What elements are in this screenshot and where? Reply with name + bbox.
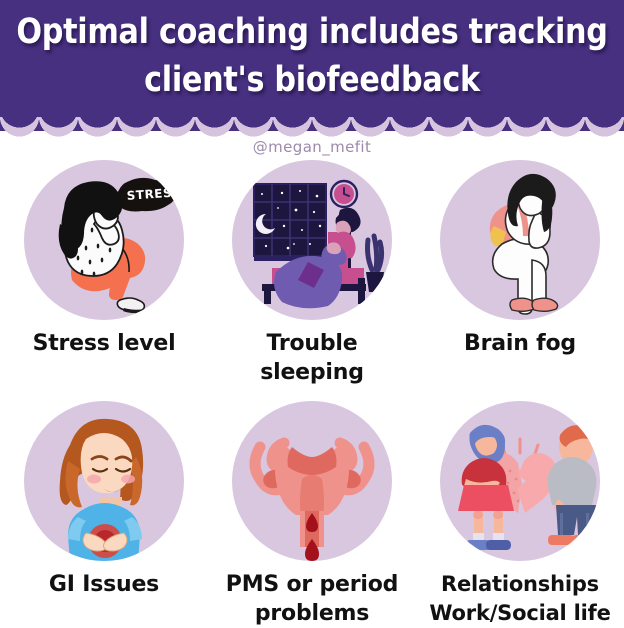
stressed-woman-icon: STRESS bbox=[24, 160, 184, 320]
symptom-row-1: STRESS bbox=[0, 160, 624, 387]
poster: Optimal coaching includes tracking clien… bbox=[0, 0, 624, 624]
stomach-ache-woman-icon bbox=[24, 401, 184, 561]
author-handle: @megan_mefit bbox=[0, 138, 624, 156]
uterus-bleeding-icon bbox=[232, 401, 392, 561]
symptom-card-stress-level[interactable]: STRESS bbox=[0, 160, 208, 387]
symptom-card-gi-issues[interactable]: GI Issues bbox=[0, 401, 208, 628]
sitting-woman-head-in-hand-icon bbox=[440, 160, 600, 320]
symptom-label: Trouble sleeping bbox=[260, 329, 364, 387]
symptom-label: Brain fog bbox=[464, 329, 576, 358]
scallop-dark-edge bbox=[0, 108, 624, 142]
page-title: Optimal coaching includes tracking clien… bbox=[12, 8, 611, 104]
symptom-card-relationships[interactable]: Relationships Work/Social life bbox=[416, 401, 624, 628]
symptom-card-brain-fog[interactable]: Brain fog bbox=[416, 160, 624, 387]
broken-heart-couple-icon bbox=[440, 401, 600, 561]
symptom-row-2: GI Issues bbox=[0, 401, 624, 628]
insomnia-bed-icon bbox=[232, 160, 392, 320]
symptom-label: GI Issues bbox=[49, 570, 159, 599]
symptom-card-pms-period-problems[interactable]: PMS or period problems bbox=[208, 401, 416, 628]
symptom-card-trouble-sleeping[interactable]: Trouble sleeping bbox=[208, 160, 416, 387]
symptom-label: Stress level bbox=[33, 329, 176, 358]
symptom-label: PMS or period problems bbox=[226, 570, 398, 628]
symptom-label: Relationships Work/Social life bbox=[429, 570, 610, 628]
symptom-grid: STRESS bbox=[0, 160, 624, 628]
